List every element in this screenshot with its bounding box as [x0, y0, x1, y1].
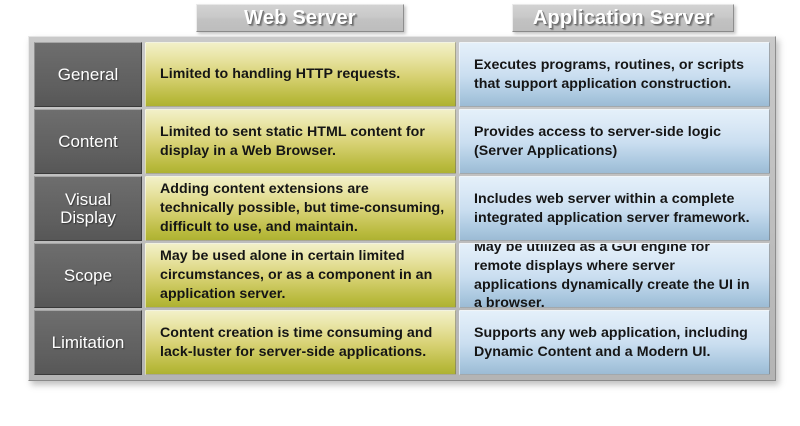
cell-text: Limited to sent static HTML content for … — [160, 123, 445, 160]
cell-content-web-server: Limited to sent static HTML content for … — [145, 109, 456, 174]
cell-visual-display-application-server: Includes web server within a complete in… — [459, 176, 770, 241]
cell-scope-application-server: May be utilized as a GUI engine for remo… — [459, 243, 770, 308]
row-label-general: General — [34, 42, 142, 107]
cell-text: Includes web server within a complete in… — [474, 190, 759, 227]
table-grid: General Limited to handling HTTP request… — [34, 42, 770, 375]
column-header-application-server: Application Server — [512, 4, 734, 32]
row-label-limitation: Limitation — [34, 310, 142, 375]
table-row: Limitation Content creation is time cons… — [34, 310, 770, 375]
table-row: General Limited to handling HTTP request… — [34, 42, 770, 107]
row-label-content: Content — [34, 109, 142, 174]
cell-general-web-server: Limited to handling HTTP requests. — [145, 42, 456, 107]
cell-scope-web-server: May be used alone in certain limited cir… — [145, 243, 456, 308]
table-row: Content Limited to sent static HTML cont… — [34, 109, 770, 174]
column-header-application-server-label: Application Server — [533, 7, 713, 30]
comparison-table-diagram: Web Server Application Server General Li… — [0, 0, 800, 426]
row-label-text: Limitation — [48, 334, 129, 352]
cell-text: Adding content extensions are technicall… — [160, 180, 445, 236]
row-label-text: Content — [54, 133, 122, 151]
row-label-text: General — [54, 66, 122, 84]
row-label-text: Scope — [60, 267, 116, 285]
table-frame: General Limited to handling HTTP request… — [28, 36, 776, 381]
cell-limitation-web-server: Content creation is time consuming and l… — [145, 310, 456, 375]
row-label-visual-display: Visual Display — [34, 176, 142, 241]
table-row: Scope May be used alone in certain limit… — [34, 243, 770, 308]
cell-text: May be used alone in certain limited cir… — [160, 247, 445, 303]
table-row: Visual Display Adding content extensions… — [34, 176, 770, 241]
cell-text: May be utilized as a GUI engine for remo… — [474, 243, 759, 308]
cell-visual-display-web-server: Adding content extensions are technicall… — [145, 176, 456, 241]
row-label-scope: Scope — [34, 243, 142, 308]
column-header-web-server: Web Server — [196, 4, 404, 32]
cell-text: Limited to handling HTTP requests. — [160, 65, 400, 84]
cell-limitation-application-server: Supports any web application, including … — [459, 310, 770, 375]
cell-text: Provides access to server-side logic (Se… — [474, 123, 759, 160]
row-label-text: Visual Display — [35, 191, 141, 227]
cell-general-application-server: Executes programs, routines, or scripts … — [459, 42, 770, 107]
column-header-web-server-label: Web Server — [244, 7, 356, 30]
cell-text: Content creation is time consuming and l… — [160, 324, 445, 361]
cell-content-application-server: Provides access to server-side logic (Se… — [459, 109, 770, 174]
cell-text: Supports any web application, including … — [474, 324, 759, 361]
cell-text: Executes programs, routines, or scripts … — [474, 56, 759, 93]
